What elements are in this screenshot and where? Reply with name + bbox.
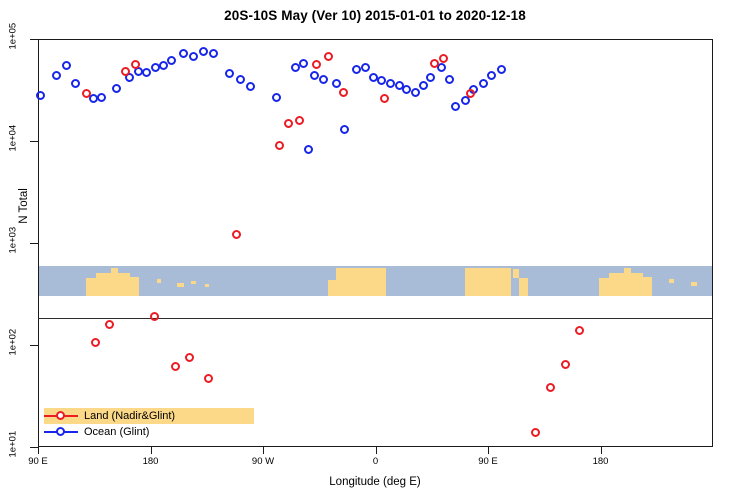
- x-axis-label: Longitude (deg E): [0, 476, 750, 488]
- data-point-land: [575, 326, 584, 335]
- data-point-ocean: [304, 145, 313, 154]
- chart-figure: 20S-10S May (Ver 10) 2015-01-01 to 2020-…: [0, 0, 750, 500]
- legend-entry-land[interactable]: Land (Nadir&Glint): [44, 408, 254, 424]
- y-axis-tick: [30, 447, 38, 448]
- chart-title: 20S-10S May (Ver 10) 2015-01-01 to 2020-…: [0, 8, 750, 23]
- x-axis-tick: [151, 447, 152, 454]
- data-point-ocean: [112, 84, 121, 93]
- landmass-australia2-peak: [624, 268, 631, 278]
- x-axis-tick-label: 90 E: [458, 456, 518, 467]
- x-axis-tick-label: 180: [121, 456, 181, 467]
- data-point-ocean: [419, 81, 428, 90]
- landmass-australia-east: [130, 277, 139, 296]
- data-point-ocean: [411, 88, 420, 97]
- x-axis-tick-label: 180: [571, 456, 631, 467]
- data-point-ocean: [310, 71, 319, 80]
- data-point-ocean: [272, 93, 281, 102]
- data-point-land: [105, 320, 114, 329]
- data-point-ocean: [319, 75, 328, 84]
- landmass-island-c: [191, 281, 196, 284]
- x-axis-tick-label: 90 W: [233, 456, 293, 467]
- data-point-land: [284, 119, 293, 128]
- data-point-ocean: [236, 75, 245, 84]
- data-point-land: [185, 353, 194, 362]
- data-point-ocean: [179, 49, 188, 58]
- data-point-land: [380, 94, 389, 103]
- data-point-land: [324, 52, 333, 61]
- legend-entry-ocean[interactable]: Ocean (Glint): [44, 424, 254, 440]
- data-point-ocean: [71, 79, 80, 88]
- landmass-island-f: [691, 282, 697, 286]
- data-point-ocean: [479, 79, 488, 88]
- landmass-island-d: [205, 284, 209, 287]
- y-axis-tick: [30, 141, 38, 142]
- legend-marker-ocean-icon: [44, 425, 78, 439]
- landmass-australia-peak: [111, 268, 118, 278]
- y-axis-tick-label: 1e+01: [8, 432, 19, 458]
- data-point-ocean: [386, 79, 395, 88]
- data-point-ocean: [199, 47, 208, 56]
- legend-label-ocean: Ocean (Glint): [78, 426, 149, 438]
- data-point-land: [121, 67, 130, 76]
- data-point-land: [150, 312, 159, 321]
- y-axis-tick: [30, 39, 38, 40]
- panel-divider: [38, 318, 713, 319]
- data-point-ocean: [426, 73, 435, 82]
- landmass-africa: [465, 268, 511, 296]
- y-axis-tick-label: 1e+05: [8, 24, 19, 50]
- data-point-ocean: [445, 75, 454, 84]
- data-point-ocean: [189, 52, 198, 61]
- landmass-madagascar: [513, 269, 519, 278]
- land-ocean-map-strip: [39, 266, 712, 296]
- data-point-land: [275, 141, 284, 150]
- data-point-land: [295, 116, 304, 125]
- x-axis-tick: [38, 447, 39, 454]
- data-point-ocean: [340, 125, 349, 134]
- y-axis-tick-label: 1e+04: [8, 126, 19, 152]
- x-axis-tick: [601, 447, 602, 454]
- landmass-island-a: [157, 279, 161, 283]
- data-point-ocean: [451, 102, 460, 111]
- data-point-land: [171, 362, 180, 371]
- data-point-ocean: [369, 73, 378, 82]
- data-point-ocean: [167, 56, 176, 65]
- x-axis-tick: [376, 447, 377, 454]
- y-axis-tick-label: 1e+03: [8, 228, 19, 254]
- data-point-ocean: [332, 79, 341, 88]
- x-axis-tick-label: 0: [346, 456, 406, 467]
- landmass-island-e: [669, 279, 674, 283]
- legend-marker-land-icon: [44, 409, 78, 423]
- data-point-ocean: [299, 59, 308, 68]
- y-axis-tick: [30, 243, 38, 244]
- landmass-island-b: [177, 283, 184, 287]
- data-point-ocean: [209, 49, 218, 58]
- chart-legend: Land (Nadir&Glint) Ocean (Glint): [44, 408, 254, 440]
- landmass-south-america-tail: [328, 280, 336, 296]
- data-point-land: [339, 88, 348, 97]
- plot-frame: [38, 39, 713, 447]
- landmass-australia2-east: [643, 277, 652, 296]
- data-point-ocean: [97, 93, 106, 102]
- y-axis-tick: [30, 345, 38, 346]
- data-point-land: [531, 428, 540, 437]
- landmass-africa-east: [519, 278, 528, 296]
- landmass-australia2-west: [599, 278, 609, 296]
- y-axis-label: N Total: [18, 156, 30, 256]
- data-point-ocean: [159, 61, 168, 70]
- data-point-land: [439, 54, 448, 63]
- legend-label-land: Land (Nadir&Glint): [78, 410, 175, 422]
- y-axis-tick-label: 1e+02: [8, 330, 19, 356]
- data-point-ocean: [36, 91, 45, 100]
- data-point-ocean: [225, 69, 234, 78]
- landmass-australia-west: [86, 278, 96, 296]
- landmass-south-america: [336, 268, 386, 296]
- x-axis-tick-label: 90 E: [8, 456, 68, 467]
- data-point-land: [204, 374, 213, 383]
- x-axis-tick: [488, 447, 489, 454]
- x-axis-tick: [263, 447, 264, 454]
